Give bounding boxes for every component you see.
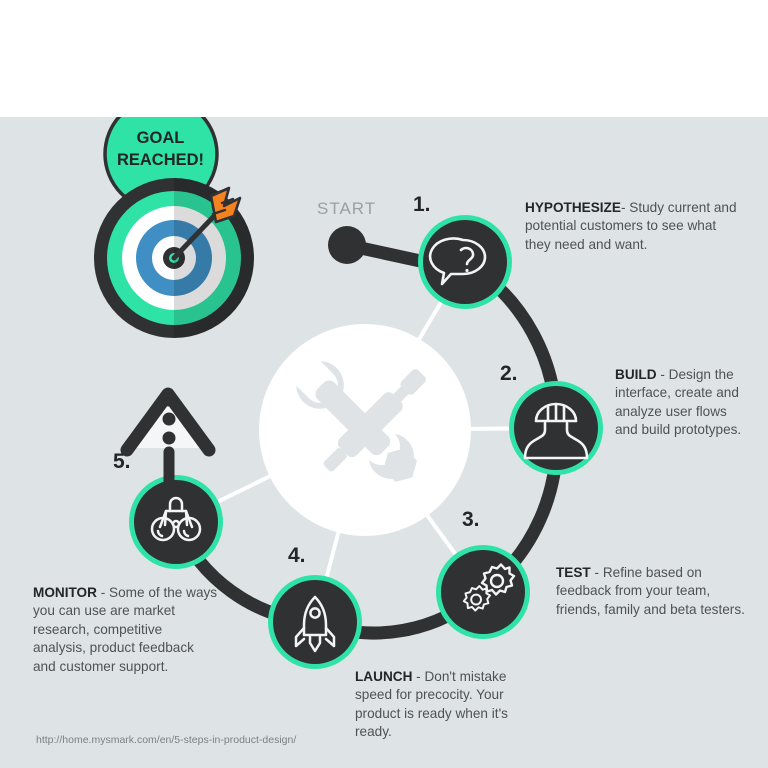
goal-reached-label: GOAL REACHED! [103, 127, 218, 171]
step-separator-build: - [657, 367, 669, 382]
step-description-build: BUILD - Design the interface, create and… [615, 366, 750, 440]
header-band [0, 0, 768, 117]
step-separator-test: - [591, 565, 603, 580]
step-node-3 [436, 545, 530, 639]
step-title-test: TEST [556, 565, 591, 580]
step-number-1: 1. [413, 193, 431, 217]
step-number-2: 2. [500, 362, 518, 386]
step-description-hypothesize: HYPOTHESIZE- Study current and potential… [525, 199, 743, 254]
step-description-launch: LAUNCH - Don't mistake speed for precoci… [355, 668, 545, 742]
step-title-build: BUILD [615, 367, 657, 382]
step-node-5 [129, 475, 223, 569]
step-title-launch: LAUNCH [355, 669, 412, 684]
step-number-4: 4. [288, 544, 306, 568]
step-title-hypothesize: HYPOTHESIZE [525, 200, 621, 215]
source-url[interactable]: http://home.mysmark.com/en/5-steps-in-pr… [36, 734, 296, 746]
step-separator-launch: - [412, 669, 424, 684]
step-node-2 [509, 381, 603, 475]
step-number-5: 5. [113, 450, 131, 474]
start-node-dot [328, 226, 366, 264]
step-node-4 [268, 575, 362, 669]
step-description-monitor: MONITOR - Some of the ways you can use a… [33, 584, 218, 676]
step-number-3: 3. [462, 508, 480, 532]
step-separator-monitor: - [97, 585, 109, 600]
step-title-monitor: MONITOR [33, 585, 97, 600]
start-label: START [317, 199, 376, 219]
step-description-test: TEST - Refine based on feedback from you… [556, 564, 756, 619]
step-node-1 [418, 215, 512, 309]
infographic-root: STEPS IN PRODUCT DESIGN Product design i… [0, 0, 768, 768]
step-separator-hypothesize: - [621, 200, 629, 215]
